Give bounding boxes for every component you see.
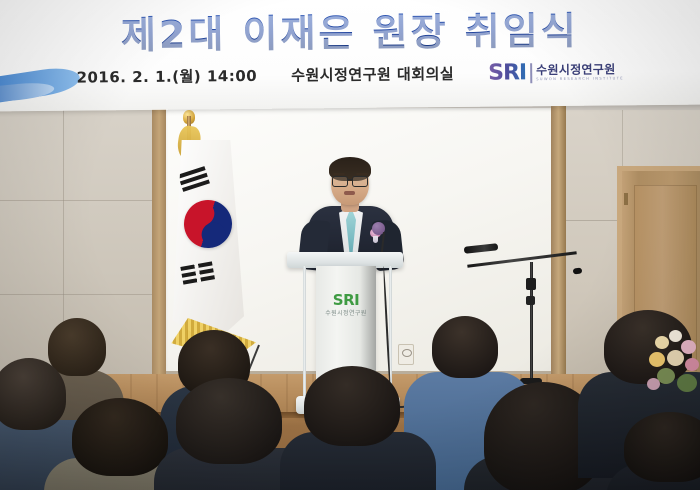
- sri-logo-english: SUWON RESEARCH INSTITUTE: [536, 77, 624, 81]
- flower-petal: [681, 340, 696, 354]
- flower-petal: [655, 336, 669, 349]
- flower-petal: [685, 358, 699, 371]
- speaker-eyebrow-left: [333, 173, 345, 175]
- sri-logo-mark: SRI: [488, 60, 526, 85]
- sri-logo-names: 수원시정연구원 SUWON RESEARCH INSTITUTE: [536, 63, 624, 81]
- sri-logo-korean: 수원시정연구원: [536, 63, 624, 76]
- wall-seam: [0, 200, 160, 201]
- banner-subline: 2016. 2. 1.(월) 14:00 수원시정연구원 대회의실 SRI 수원…: [0, 59, 700, 91]
- audience-hair: [304, 366, 400, 446]
- audience-member-10: [618, 412, 700, 490]
- door-hinge: [624, 193, 628, 205]
- flower-arrangement: [645, 330, 700, 416]
- flower-petal: [667, 350, 684, 366]
- taeguk-circle: [176, 192, 241, 257]
- trigram-geon: [178, 166, 211, 193]
- wall-seam: [0, 294, 160, 295]
- flower-leaf: [677, 374, 697, 392]
- electrical-outlet-icon: [398, 344, 414, 365]
- audience-hair: [0, 358, 66, 430]
- banner-datetime: 2016. 2. 1.(월) 14:00: [76, 65, 257, 88]
- speaker-eyebrow-right: [356, 173, 368, 175]
- stand-clamp-lower: [526, 296, 535, 305]
- sri-logo: SRI 수원시정연구원 SUWON RESEARCH INSTITUTE: [488, 59, 624, 85]
- event-banner: 제2대 이재은 원장 취임식 2016. 2. 1.(월) 14:00 수원시정…: [0, 0, 700, 111]
- flower-petal: [649, 352, 665, 367]
- glasses-icon: [332, 176, 368, 185]
- glasses-lens-left: [332, 176, 348, 187]
- trigram-gon: [180, 261, 215, 288]
- speaker-mouth: [344, 191, 355, 195]
- audience-member-6: [298, 366, 414, 490]
- stand-clamp-upper: [526, 278, 536, 290]
- flower-petal: [669, 330, 682, 342]
- inauguration-ceremony-photo: SRI 수원시정연구원: [0, 0, 700, 490]
- banner-title: 제2대 이재은 원장 취임식: [0, 0, 700, 60]
- sri-logo-divider: [530, 63, 532, 83]
- flower-petal: [647, 378, 660, 390]
- corsage-ribbon: [373, 236, 378, 243]
- outlet-socket: [402, 349, 412, 357]
- banner-venue: 수원시정연구원 대회의실: [291, 63, 454, 86]
- audience-hair: [72, 398, 168, 476]
- audience-hair: [624, 412, 700, 482]
- glasses-lens-right: [352, 176, 368, 187]
- audience-hair: [176, 378, 282, 464]
- audience-hair: [432, 316, 498, 378]
